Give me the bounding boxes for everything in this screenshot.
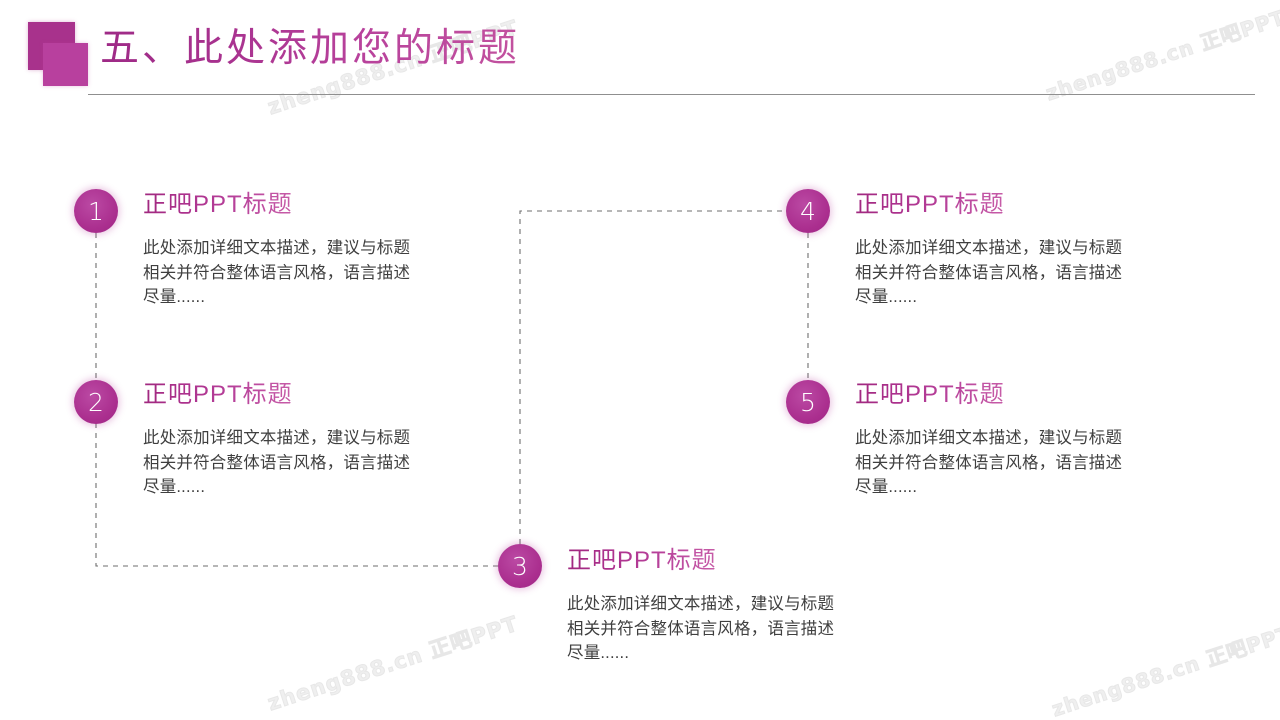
item-body-line: 此处添加详细文本描述，建议与标题 (855, 236, 1215, 261)
item-body: 此处添加详细文本描述，建议与标题 相关并符合整体语言风格，语言描述 尽量....… (855, 236, 1215, 310)
item-body-line: 此处添加详细文本描述，建议与标题 (855, 426, 1215, 451)
item-body: 此处添加详细文本描述，建议与标题 相关并符合整体语言风格，语言描述 尽量....… (567, 592, 927, 666)
watermark-bottom-left: zheng888.cn 正吧PPT (263, 608, 521, 718)
title-divider (88, 94, 1255, 95)
item-body-line: 相关并符合整体语言风格，语言描述 (143, 451, 503, 476)
item-body-line: 相关并符合整体语言风格，语言描述 (855, 451, 1215, 476)
connector-right-path (520, 211, 786, 544)
item-heading: 正吧PPT标题 (855, 380, 1005, 410)
watermark-bottom-right: zheng888.cn 正吧PPT (1048, 617, 1280, 720)
item-body-line: 此处添加详细文本描述，建议与标题 (143, 236, 503, 261)
item-body-line: 相关并符合整体语言风格，语言描述 (567, 617, 927, 642)
item-body: 此处添加详细文本描述，建议与标题 相关并符合整体语言风格，语言描述 尽量....… (855, 426, 1215, 500)
slide-header: 五、此处添加您的标题 (0, 0, 1280, 110)
item-body-line: 尽量...... (855, 285, 1215, 310)
item-heading: 正吧PPT标题 (567, 546, 717, 576)
item-number-badge[interactable]: 1 (74, 189, 118, 233)
item-body-line: 相关并符合整体语言风格，语言描述 (855, 261, 1215, 286)
item-body-line: 此处添加详细文本描述，建议与标题 (143, 426, 503, 451)
item-body: 此处添加详细文本描述，建议与标题 相关并符合整体语言风格，语言描述 尽量....… (143, 426, 503, 500)
item-body-line: 尽量...... (567, 641, 927, 666)
item-body: 此处添加详细文本描述，建议与标题 相关并符合整体语言风格，语言描述 尽量....… (143, 236, 503, 310)
item-body-line: 相关并符合整体语言风格，语言描述 (143, 261, 503, 286)
item-number-badge[interactable]: 4 (786, 189, 830, 233)
page-title: 五、此处添加您的标题 (100, 24, 520, 74)
item-heading: 正吧PPT标题 (143, 380, 293, 410)
item-body-line: 尽量...... (143, 285, 503, 310)
slide-canvas: zheng888.cn 正吧PPT zheng888.cn 正吧PPT zhen… (0, 0, 1280, 720)
item-body-line: 尽量...... (855, 475, 1215, 500)
item-number-badge[interactable]: 3 (498, 544, 542, 588)
item-heading: 正吧PPT标题 (143, 190, 293, 220)
item-body-line: 此处添加详细文本描述，建议与标题 (567, 592, 927, 617)
item-number-badge[interactable]: 5 (786, 380, 830, 424)
item-body-line: 尽量...... (143, 475, 503, 500)
item-heading: 正吧PPT标题 (855, 190, 1005, 220)
item-number-badge[interactable]: 2 (74, 380, 118, 424)
decor-square-small-icon (43, 43, 88, 86)
